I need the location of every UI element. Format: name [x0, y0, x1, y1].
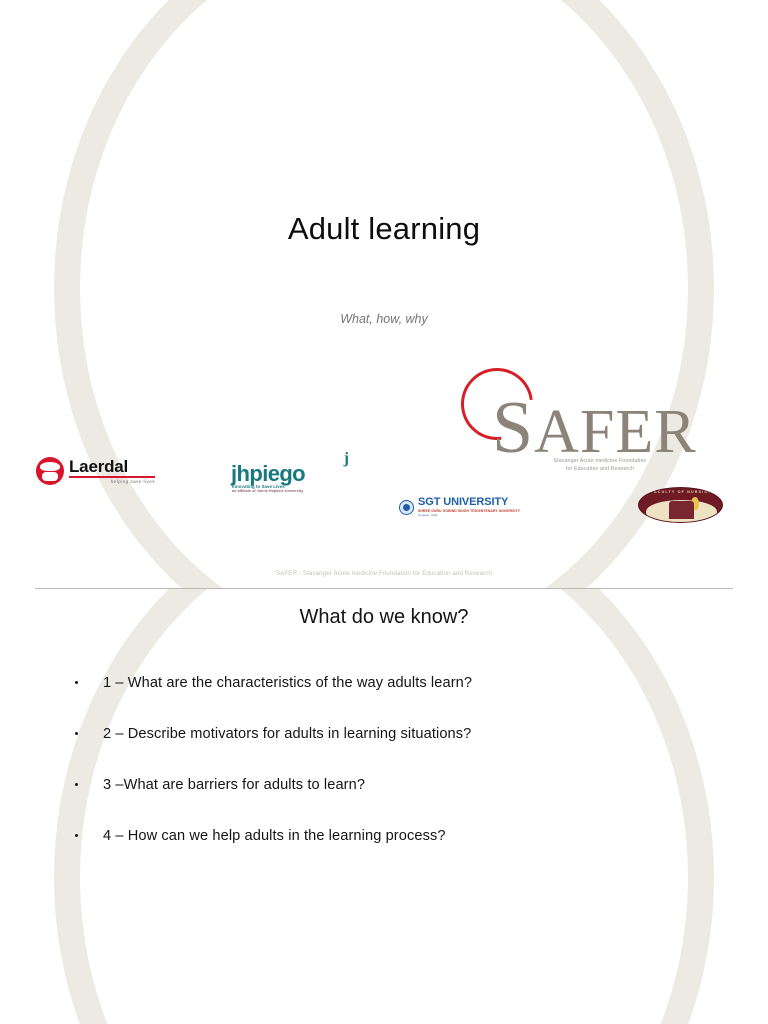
slide-title: Adult learning What, how, why Laerdal he… [0, 0, 768, 588]
laerdal-tagline: helping save lives [69, 479, 155, 484]
list-item: 2 – Describe motivators for adults in le… [0, 726, 768, 777]
page-title: Adult learning [0, 211, 768, 247]
sgt-name: SGT UNIVERSITY [418, 497, 520, 508]
laerdal-logo: Laerdal helping save lives [36, 455, 161, 487]
list-item-label: 3 –What are barriers for adults to learn… [103, 777, 365, 794]
nursing-faculty-logo: FACULTY OF NURSING [638, 487, 723, 523]
nursing-lamp-flame-icon [691, 497, 699, 510]
bullet-dot-icon [75, 783, 78, 786]
slide-what-do-we-know: What do we know? 1 – What are the charac… [0, 589, 768, 1024]
sgt-subtitle-primary: SHREE GURU GOBIND SINGH TRICENTENARY UNI… [418, 509, 520, 513]
laerdal-rule [69, 476, 155, 478]
list-item: 1 – What are the characteristics of the … [0, 675, 768, 726]
jhpiego-name: jhpiego [231, 463, 305, 485]
slide-deck-page: Adult learning What, how, why Laerdal he… [0, 0, 768, 1024]
slide-subtitle: What, how, why [0, 312, 768, 326]
list-item: 3 –What are barriers for adults to learn… [0, 777, 768, 828]
laerdal-figure-icon [36, 457, 64, 485]
jhpiego-tagline-secondary: an affiliate of Johns Hopkins University [232, 489, 303, 493]
sgt-subtitle-secondary: Gurgaon, India [418, 513, 520, 517]
safer-subtitle-line1: Stavanger Acute medicine Foundation [520, 457, 680, 465]
list-item-label: 2 – Describe motivators for adults in le… [103, 726, 471, 743]
laerdal-name: Laerdal [69, 458, 155, 475]
bullet-dot-icon [75, 732, 78, 735]
safer-subtitle-line2: for Education and Research [520, 465, 680, 473]
list-item: 4 – How can we help adults in the learni… [0, 828, 768, 879]
safer-remaining-letters: AFER [534, 398, 696, 466]
nursing-ring-text: FACULTY OF NURSING [639, 490, 723, 494]
page-title: What do we know? [0, 606, 768, 629]
bullet-dot-icon [75, 681, 78, 684]
slide-footer-note: SAFER - Stavanger Acute medicine Foundat… [0, 570, 768, 577]
ring-arc-shape [54, 0, 714, 588]
nursing-oval-emblem-icon: FACULTY OF NURSING [638, 487, 723, 523]
laerdal-wordmark: Laerdal helping save lives [69, 458, 155, 484]
sgt-seal-icon [399, 500, 414, 515]
jhpiego-logo: j jhpiego Innovating to Save Lives an af… [231, 452, 351, 486]
list-item-label: 4 – How can we help adults in the learni… [103, 828, 446, 845]
sgt-university-logo: SGT UNIVERSITY SHREE GURU GOBIND SINGH T… [399, 496, 529, 518]
jhpiego-j-icon: j [344, 452, 349, 466]
safer-wordmark: SAFER [492, 397, 697, 463]
bullet-list: 1 – What are the characteristics of the … [0, 675, 768, 879]
safer-logo: SAFER Stavanger Acute medicine Foundatio… [460, 368, 680, 476]
sgt-wordmark: SGT UNIVERSITY SHREE GURU GOBIND SINGH T… [418, 497, 520, 518]
list-item-label: 1 – What are the characteristics of the … [103, 675, 472, 692]
safer-subtitle: Stavanger Acute medicine Foundation for … [520, 457, 680, 473]
bullet-dot-icon [75, 834, 78, 837]
